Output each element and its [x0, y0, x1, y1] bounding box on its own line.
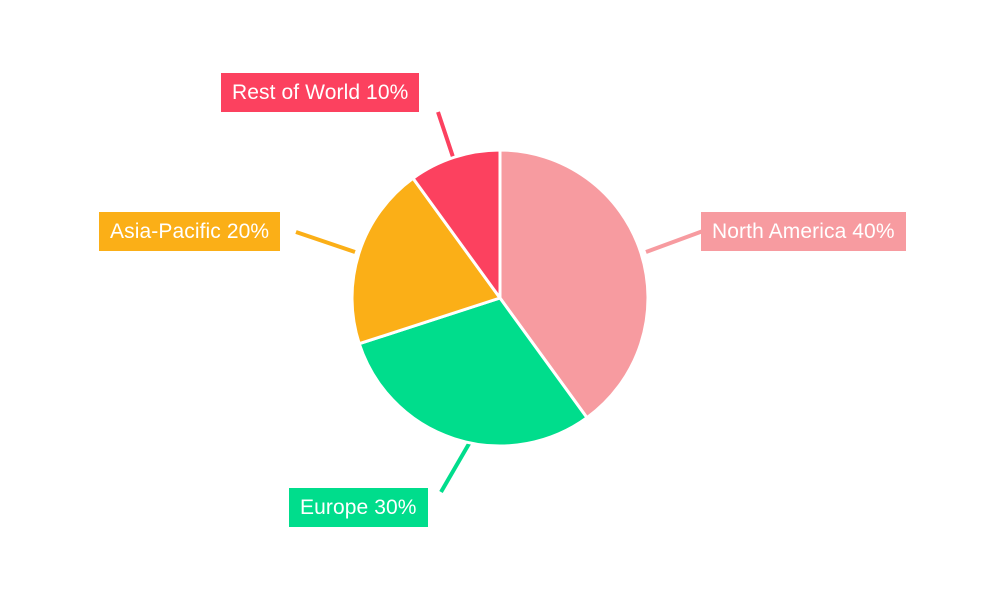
leader-line-asia-pacific	[296, 232, 355, 252]
pie-label-asia-pacific[interactable]: Asia-Pacific 20%	[99, 212, 280, 251]
pie-chart-figure: North America 40% Europe 30% Asia-Pacifi…	[0, 0, 1000, 600]
pie-slices	[352, 150, 648, 446]
pie-label-rest-of-world[interactable]: Rest of World 10%	[221, 73, 419, 112]
leader-line-north-america	[646, 231, 703, 252]
leader-line-europe	[441, 442, 470, 492]
pie-label-north-america[interactable]: North America 40%	[701, 212, 906, 251]
pie-label-europe[interactable]: Europe 30%	[289, 488, 428, 527]
pie-chart-canvas	[0, 0, 1000, 600]
leader-line-rest-of-world	[438, 112, 455, 163]
